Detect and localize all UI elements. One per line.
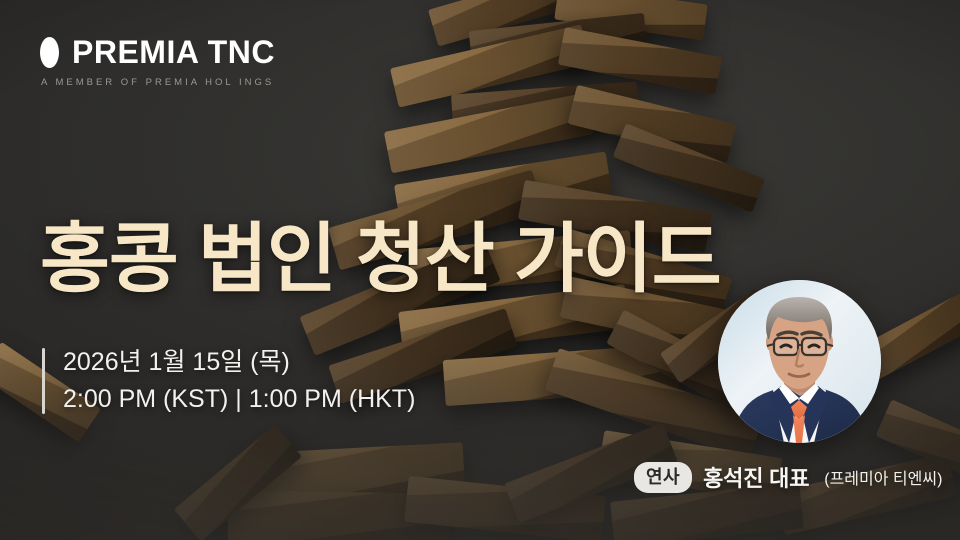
status-badge: 연사 [634, 462, 692, 493]
speaker-headshot-illustration [718, 280, 881, 443]
avatar [718, 280, 881, 443]
speaker-name: 홍석진 대표 [703, 461, 809, 493]
event-schedule: 2026년 1월 15일 (목) 2:00 PM (KST) | 1:00 PM… [42, 348, 415, 414]
page-title: 홍콩 법인 청산 가이드 [40, 219, 721, 301]
speaker-organization: (프레미아 티엔씨) [824, 465, 942, 489]
event-date: 2026년 1월 15일 (목) [63, 348, 415, 378]
event-time: 2:00 PM (KST) | 1:00 PM (HKT) [63, 385, 415, 415]
webinar-banner: PREMIA TNC A MEMBER OF PREMIA HOL INGS 홍… [0, 0, 960, 540]
speaker-caption: 연사 홍석진 대표 (프레미아 티엔씨) [634, 461, 942, 493]
brand-logo: PREMIA TNC A MEMBER OF PREMIA HOL INGS [40, 36, 340, 88]
brand-tagline: A MEMBER OF PREMIA HOL INGS [41, 77, 340, 88]
brand-name: PREMIA TNC [72, 36, 275, 68]
accent-bar [42, 348, 45, 414]
oval-logo-mark-icon [40, 37, 59, 68]
brand-logo-row: PREMIA TNC [40, 36, 340, 68]
event-schedule-lines: 2026년 1월 15일 (목) 2:00 PM (KST) | 1:00 PM… [63, 348, 415, 414]
